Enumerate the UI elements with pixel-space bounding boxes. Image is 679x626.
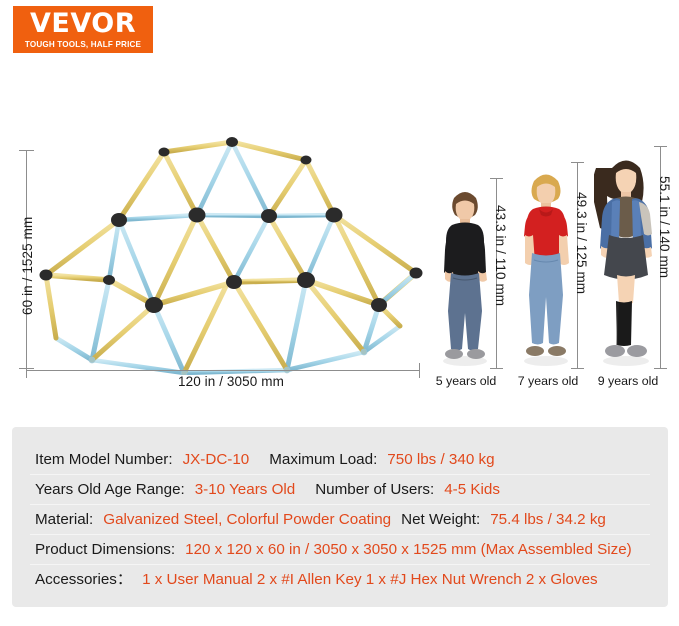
boy-5-cap-bottom: [490, 368, 503, 369]
dome-height-label: 60 in / 1525 mm: [20, 217, 35, 315]
brand-tagline: TOUGH TOOLS, HALF PRICE: [25, 40, 141, 49]
girl-9-height-label: 55.1 in / 140 mm: [657, 176, 672, 278]
boy-7-caption: 7 years old: [512, 374, 584, 388]
girl-9-cap-top: [654, 146, 667, 147]
spec-label-max-load: Maximum Load:: [269, 451, 377, 468]
figure-boy-7: [516, 162, 576, 368]
dome-width-cap-left: [26, 363, 27, 378]
spec-value-accessories: 1 x User Manual 2 x #I Allen Key 1 x #J …: [142, 571, 598, 588]
spec-label-number-users: Number of Users:: [315, 481, 434, 498]
product-infographic: VEVOR TOUGH TOOLS, HALF PRICE 60 in / 15…: [0, 0, 679, 626]
spec-row-dimensions: Product Dimensions:120 x 120 x 60 in / 3…: [30, 535, 650, 565]
spec-row-material-weight: Material:Galvanized Steel, Colorful Powd…: [30, 505, 650, 535]
spec-label-dimensions: Product Dimensions:: [35, 541, 175, 558]
spec-value-material: Galvanized Steel, Colorful Powder Coatin…: [103, 511, 391, 528]
spec-row-accessories: Accessories：1 x User Manual 2 x #I Allen…: [30, 565, 650, 595]
spec-label-material: Material:: [35, 511, 93, 528]
spec-label-model: Item Model Number:: [35, 451, 173, 468]
spec-row-model-load: Item Model Number:JX-DC-10Maximum Load:7…: [30, 445, 650, 475]
figure-girl-9: [594, 146, 658, 368]
dome-height-cap-top: [19, 150, 34, 151]
boy-5-height-label: 43.3 in / 110 mm: [493, 205, 508, 306]
figure-boy-5: [434, 178, 496, 368]
spec-label-net-weight: Net Weight:: [401, 511, 480, 528]
boy-5-cap-top: [490, 178, 503, 179]
dome-width-label: 120 in / 3050 mm: [178, 374, 284, 389]
climbing-dome-illustration: [34, 130, 424, 375]
spec-value-model: JX-DC-10: [183, 451, 250, 468]
illustration-stage: 60 in / 1525 mm: [0, 120, 679, 415]
spec-label-accessories: Accessories：: [35, 571, 132, 588]
specification-table: Item Model Number:JX-DC-10Maximum Load:7…: [12, 427, 668, 607]
spec-value-dimensions: 120 x 120 x 60 in / 3050 x 3050 x 1525 m…: [185, 541, 632, 558]
brand-name: VEVOR: [30, 10, 136, 37]
spec-value-age-range: 3-10 Years Old: [195, 481, 295, 498]
spec-label-age-range: Years Old Age Range:: [35, 481, 185, 498]
boy-5-caption: 5 years old: [430, 374, 502, 388]
dome-width-cap-right: [419, 363, 420, 378]
spec-value-number-users: 4-5 Kids: [444, 481, 500, 498]
vevor-logo: VEVOR TOUGH TOOLS, HALF PRICE: [13, 6, 153, 53]
spec-row-age-users: Years Old Age Range:3-10 Years OldNumber…: [30, 475, 650, 505]
girl-9-cap-bottom: [654, 368, 667, 369]
boy-7-cap-bottom: [571, 368, 584, 369]
spec-value-net-weight: 75.4 lbs / 34.2 kg: [490, 511, 606, 528]
boy-7-cap-top: [571, 162, 584, 163]
spec-value-max-load: 750 lbs / 340 kg: [387, 451, 494, 468]
boy-7-height-label: 49.3 in / 125 mm: [574, 192, 589, 294]
dome-width-dimension-line: [26, 370, 420, 371]
girl-9-caption: 9 years old: [592, 374, 664, 388]
hub-connectors: [40, 137, 423, 313]
